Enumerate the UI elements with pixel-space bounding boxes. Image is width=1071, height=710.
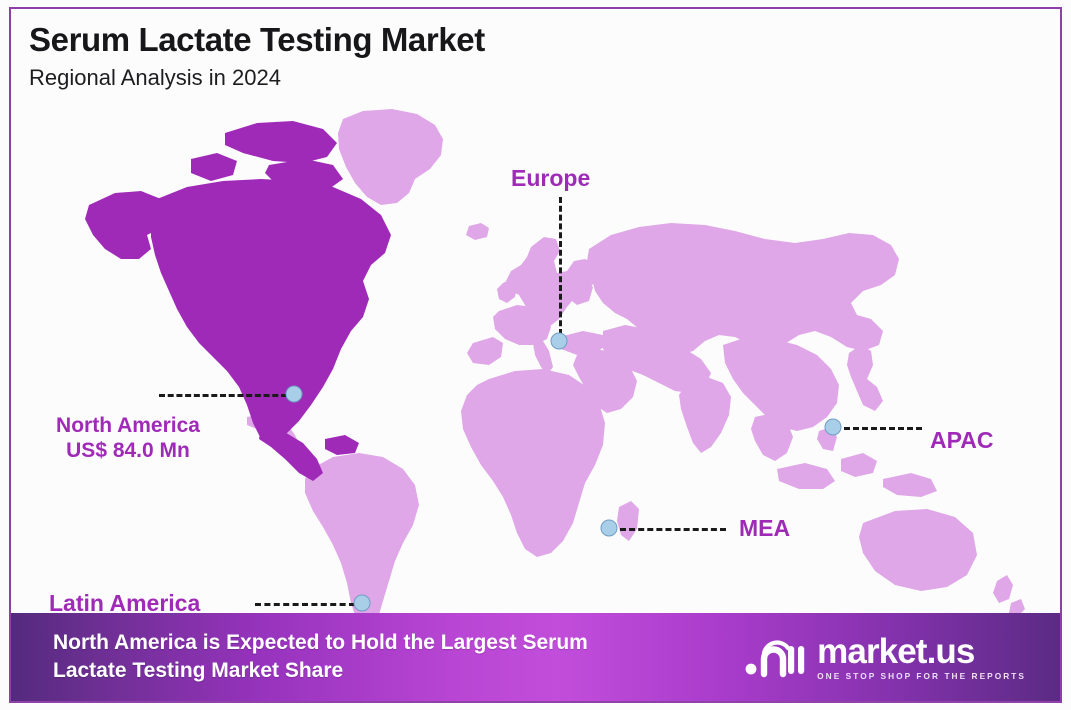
- footer-headline-line2: Lactate Testing Market Share: [53, 657, 588, 685]
- region-british-isles: [497, 279, 517, 303]
- region-value-north-america: US$ 84.0 Mn: [31, 439, 225, 464]
- region-label-north-america: North America US$ 84.0 Mn: [31, 414, 225, 464]
- connector-latin-america: [255, 603, 355, 606]
- region-india: [679, 377, 731, 453]
- region-japan: [847, 345, 883, 411]
- region-iceland: [466, 223, 489, 240]
- region-indonesia-2: [841, 453, 877, 477]
- region-newguinea: [883, 473, 937, 497]
- footer-banner: North America is Expected to Hold the La…: [11, 613, 1060, 701]
- page-subtitle: Regional Analysis in 2024: [29, 65, 485, 90]
- logo-text: market.us ONE STOP SHOP FOR THE REPORTS: [817, 634, 1026, 680]
- connector-mea: [620, 528, 726, 531]
- logo-tagline: ONE STOP SHOP FOR THE REPORTS: [817, 672, 1026, 680]
- marker-europe[interactable]: [551, 333, 568, 350]
- region-iberia: [467, 337, 503, 365]
- region-indonesia-1: [777, 463, 835, 489]
- region-label-apac: APAC: [930, 427, 993, 454]
- region-east-asia: [723, 337, 839, 431]
- page-title: Serum Lactate Testing Market: [29, 21, 485, 59]
- region-label-europe: Europe: [511, 165, 590, 192]
- footer-headline-line1: North America is Expected to Hold the La…: [53, 629, 588, 657]
- connector-apac: [844, 427, 922, 430]
- region-greenland: [338, 109, 443, 205]
- region-new-zealand: [993, 575, 1013, 603]
- region-label-north-america-name: North America: [56, 414, 200, 437]
- connector-europe: [559, 197, 562, 335]
- marker-north-america[interactable]: [286, 386, 303, 403]
- marker-latin-america[interactable]: [354, 595, 371, 612]
- marker-apac[interactable]: [825, 419, 842, 436]
- region-north-america-main: [151, 179, 391, 445]
- region-caribbean: [325, 435, 359, 455]
- market-us-logo-icon: [744, 634, 806, 680]
- world-map-container: North America US$ 84.0 Mn Europe APAC ME…: [11, 87, 1062, 627]
- footer-headline: North America is Expected to Hold the La…: [53, 629, 588, 686]
- logo-name: market.us: [817, 634, 1026, 669]
- region-africa: [461, 369, 605, 557]
- region-label-europe-name: Europe: [511, 165, 590, 191]
- region-label-apac-name: APAC: [930, 427, 993, 453]
- brand-logo[interactable]: market.us ONE STOP SHOP FOR THE REPORTS: [744, 634, 1040, 680]
- region-arctic-islands-1: [225, 121, 337, 163]
- header: Serum Lactate Testing Market Regional An…: [29, 21, 485, 90]
- infographic-frame: Serum Lactate Testing Market Regional An…: [9, 7, 1062, 703]
- region-label-mea: MEA: [739, 515, 790, 542]
- map-base-regions: [247, 109, 1025, 627]
- marker-mea[interactable]: [601, 520, 618, 537]
- region-madagascar: [617, 501, 639, 541]
- connector-north-america: [159, 394, 287, 397]
- infographic-root: Serum Lactate Testing Market Regional An…: [0, 0, 1071, 710]
- region-australia: [859, 509, 977, 591]
- region-arctic-islands-3: [191, 153, 237, 181]
- region-label-mea-name: MEA: [739, 515, 790, 541]
